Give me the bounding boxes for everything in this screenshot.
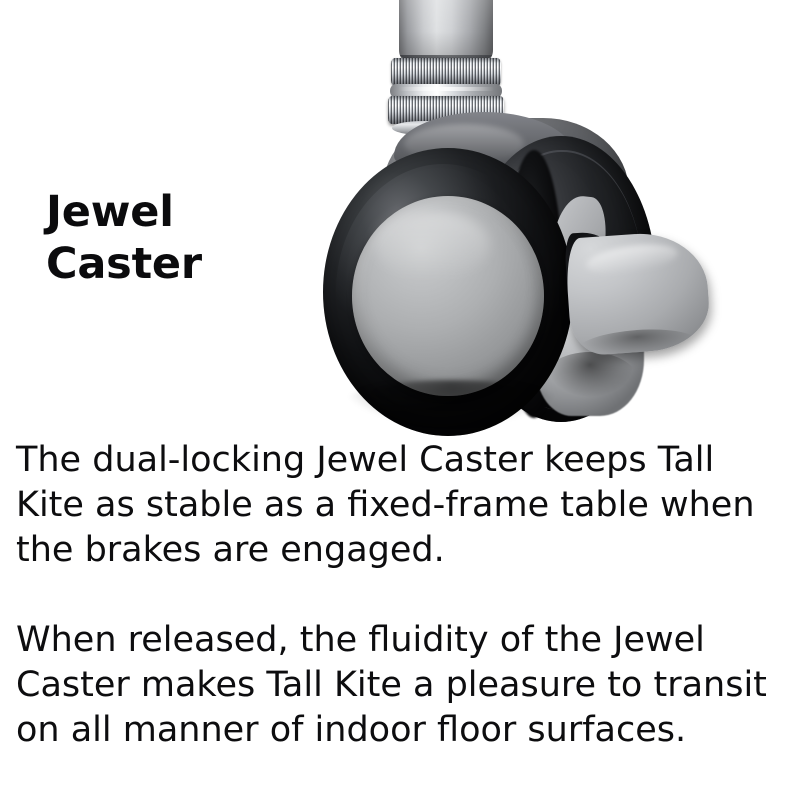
- stem-tube-highlight: [399, 0, 493, 60]
- knurled-ring-upper-icon: [391, 58, 501, 86]
- stem-tube: [399, 0, 493, 60]
- description-paragraph-1: The dual-locking Jewel Caster keeps Tall…: [16, 438, 788, 573]
- product-feature-panel: Jewel Caster The dual-locking Jewel Cast…: [0, 0, 800, 800]
- product-title: Jewel Caster: [46, 186, 346, 290]
- tyre-bottom-shadow: [336, 380, 566, 438]
- description-paragraph-2: When released, the fluidity of the Jewel…: [16, 618, 788, 753]
- wheel-hub-cap-rim-shade: [352, 196, 544, 396]
- product-description: The dual-locking Jewel Caster keeps Tall…: [16, 438, 798, 753]
